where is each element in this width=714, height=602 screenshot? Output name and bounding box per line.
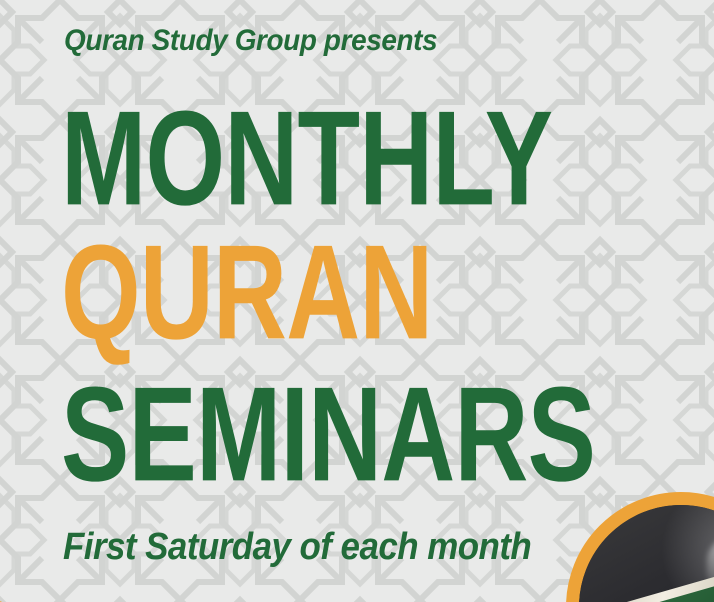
- title-line-seminars: SEMINARS: [61, 368, 595, 502]
- title-line-quran: QURAN: [61, 226, 432, 360]
- schedule-tagline: First Saturday of each month: [63, 526, 531, 569]
- poster-canvas: Quran Study Group presents MONTHLY QURAN…: [0, 0, 714, 602]
- poster-text-content: Quran Study Group presents MONTHLY QURAN…: [0, 0, 714, 602]
- title-line-monthly: MONTHLY: [61, 92, 552, 226]
- presenter-kicker: Quran Study Group presents: [64, 24, 437, 58]
